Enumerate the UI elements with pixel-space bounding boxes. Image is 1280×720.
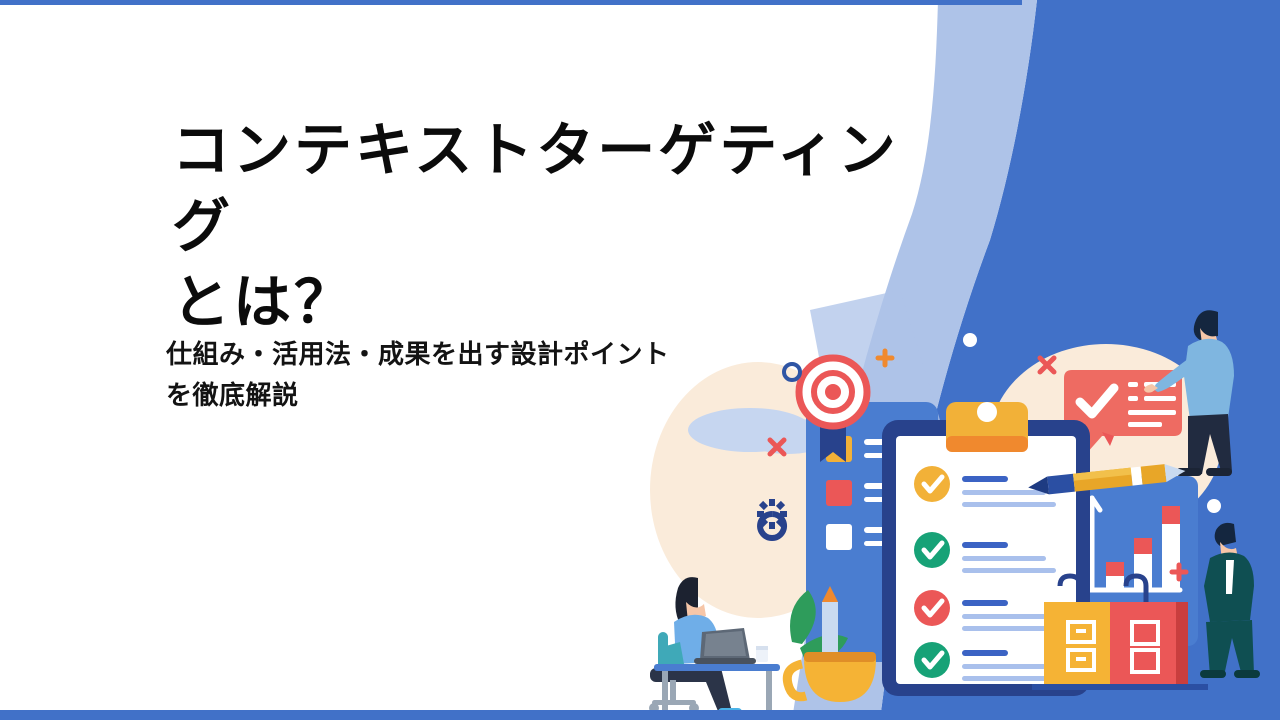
- folder-shelf: [1032, 684, 1208, 690]
- side-square-white: [826, 524, 852, 550]
- check-circle-red: [914, 590, 950, 626]
- clipboard-clip-hole: [977, 402, 997, 422]
- page-title: コンテキストターゲティング とは？: [172, 112, 932, 340]
- page-subtitle: 仕組み・活用法・成果を出す設計ポイント を徹底解説: [166, 335, 786, 417]
- mug-handle: [787, 664, 806, 697]
- title-block: コンテキストターゲティング とは？: [172, 112, 932, 340]
- side-square-red: [826, 480, 852, 506]
- person-standing: [1200, 523, 1260, 678]
- check-circle-yellow: [914, 466, 950, 502]
- dot-mark-light: [963, 333, 977, 347]
- clipboard-clip-lip: [946, 436, 1028, 452]
- standing-legs: [1206, 620, 1254, 676]
- laptop: [694, 628, 756, 664]
- presenter-shirt: [1184, 339, 1234, 420]
- mug-body: [804, 658, 876, 702]
- slide-canvas: コンテキストターゲティング とは？ 仕組み・活用法・成果を出す設計ポイント を徹…: [0, 0, 1280, 720]
- coffee-cup-small: [756, 646, 768, 662]
- bottom-accent-rule: [0, 710, 1280, 720]
- target-bullseye: [825, 384, 841, 400]
- mug-rim: [804, 652, 876, 662]
- standing-shoe-a: [1234, 670, 1260, 678]
- check-circle-green-2: [914, 642, 950, 678]
- dot-mark-light-2: [1207, 499, 1221, 513]
- top-accent-rule: [0, 0, 1022, 5]
- standing-shoe-b: [1200, 670, 1226, 678]
- presenter-shoe-a: [1206, 468, 1232, 476]
- check-circle-green-1: [914, 532, 950, 568]
- standing-hair: [1215, 523, 1236, 546]
